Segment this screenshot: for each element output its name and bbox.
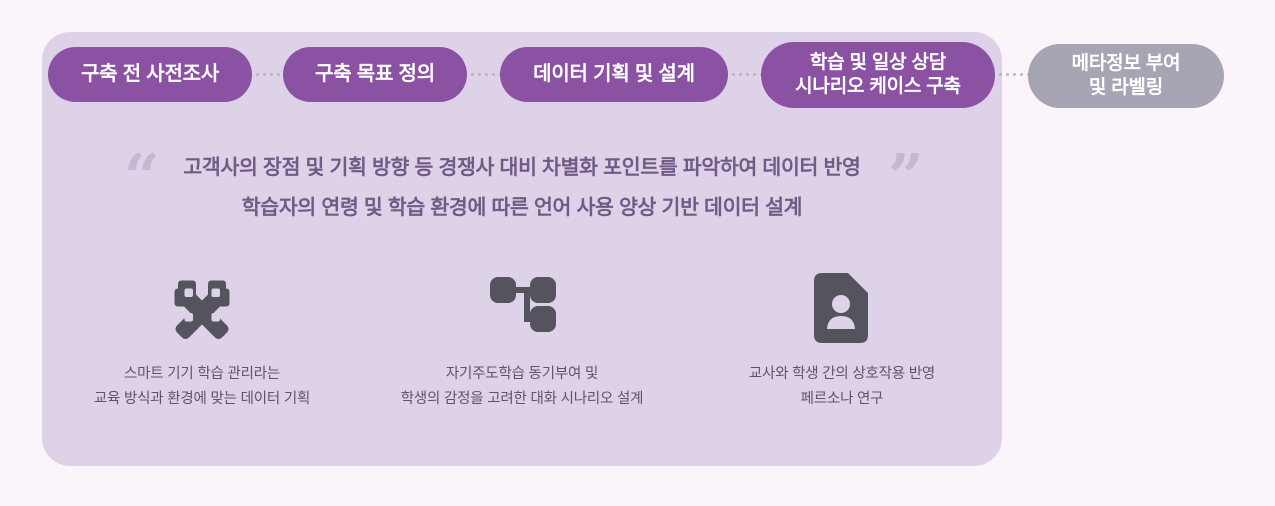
step-connector-4: [999, 72, 1030, 76]
process-step-list: 구축 전 사전조사 구축 목표 정의 데이터 기획 및 설계 학습 및 일상 상…: [0, 0, 1275, 120]
process-step-5[interactable]: 메타정보 부여 및 라벨링: [1028, 44, 1224, 108]
process-step-3-label: 데이터 기획 및 설계: [533, 62, 695, 87]
process-step-3[interactable]: 데이터 기획 및 설계: [500, 47, 728, 102]
process-step-2[interactable]: 구축 목표 정의: [283, 47, 467, 102]
process-step-1-label: 구축 전 사전조사: [81, 62, 219, 87]
feature-item-3-caption: 교사와 학생 간의 상호작용 반영 페르소나 연구: [749, 362, 935, 413]
process-overview-slide: 구축 전 사전조사 구축 목표 정의 데이터 기획 및 설계 학습 및 일상 상…: [0, 0, 1275, 506]
feature-item-2: 자기주도학습 동기부여 및 학생의 감정을 고려한 대화 시나리오 설계: [362, 272, 682, 442]
feature-item-1: 스마트 기기 학습 관리라는 교육 방식과 환경에 맞는 데이터 기획: [42, 272, 362, 442]
feature-item-1-caption: 스마트 기기 학습 관리라는 교육 방식과 환경에 맞는 데이터 기획: [94, 362, 310, 413]
step-connector-3: [732, 72, 763, 76]
process-step-4-label: 학습 및 일상 상담 시나리오 케이스 구축: [795, 51, 961, 99]
feature-item-3: 교사와 학생 간의 상호작용 반영 페르소나 연구: [682, 272, 1002, 442]
process-step-5-label: 메타정보 부여 및 라벨링: [1072, 52, 1181, 100]
quote-line-2: 학습자의 연령 및 학습 환경에 따른 언어 사용 양상 기반 데이터 설계: [42, 190, 1002, 220]
step-connector-2: [471, 72, 502, 76]
process-step-2-label: 구축 목표 정의: [315, 62, 435, 87]
person-document-icon: [812, 272, 872, 344]
quote-close-mark: ”: [888, 146, 924, 208]
crossed-tools-icon: [165, 272, 239, 344]
highlight-quote: “ ” 고객사의 장점 및 기획 방향 등 경쟁사 대비 차별화 포인트를 파악…: [42, 150, 1002, 220]
process-step-1[interactable]: 구축 전 사전조사: [48, 47, 252, 102]
feature-item-2-caption: 자기주도학습 동기부여 및 학생의 감정을 고려한 대화 시나리오 설계: [401, 362, 644, 413]
quote-open-mark: “: [124, 146, 160, 208]
node-hierarchy-icon: [486, 272, 558, 344]
feature-list: 스마트 기기 학습 관리라는 교육 방식과 환경에 맞는 데이터 기획 자기주도…: [42, 272, 1002, 442]
process-step-4[interactable]: 학습 및 일상 상담 시나리오 케이스 구축: [761, 42, 995, 108]
quote-line-1: 고객사의 장점 및 기획 방향 등 경쟁사 대비 차별화 포인트를 파악하여 데…: [42, 150, 1002, 180]
